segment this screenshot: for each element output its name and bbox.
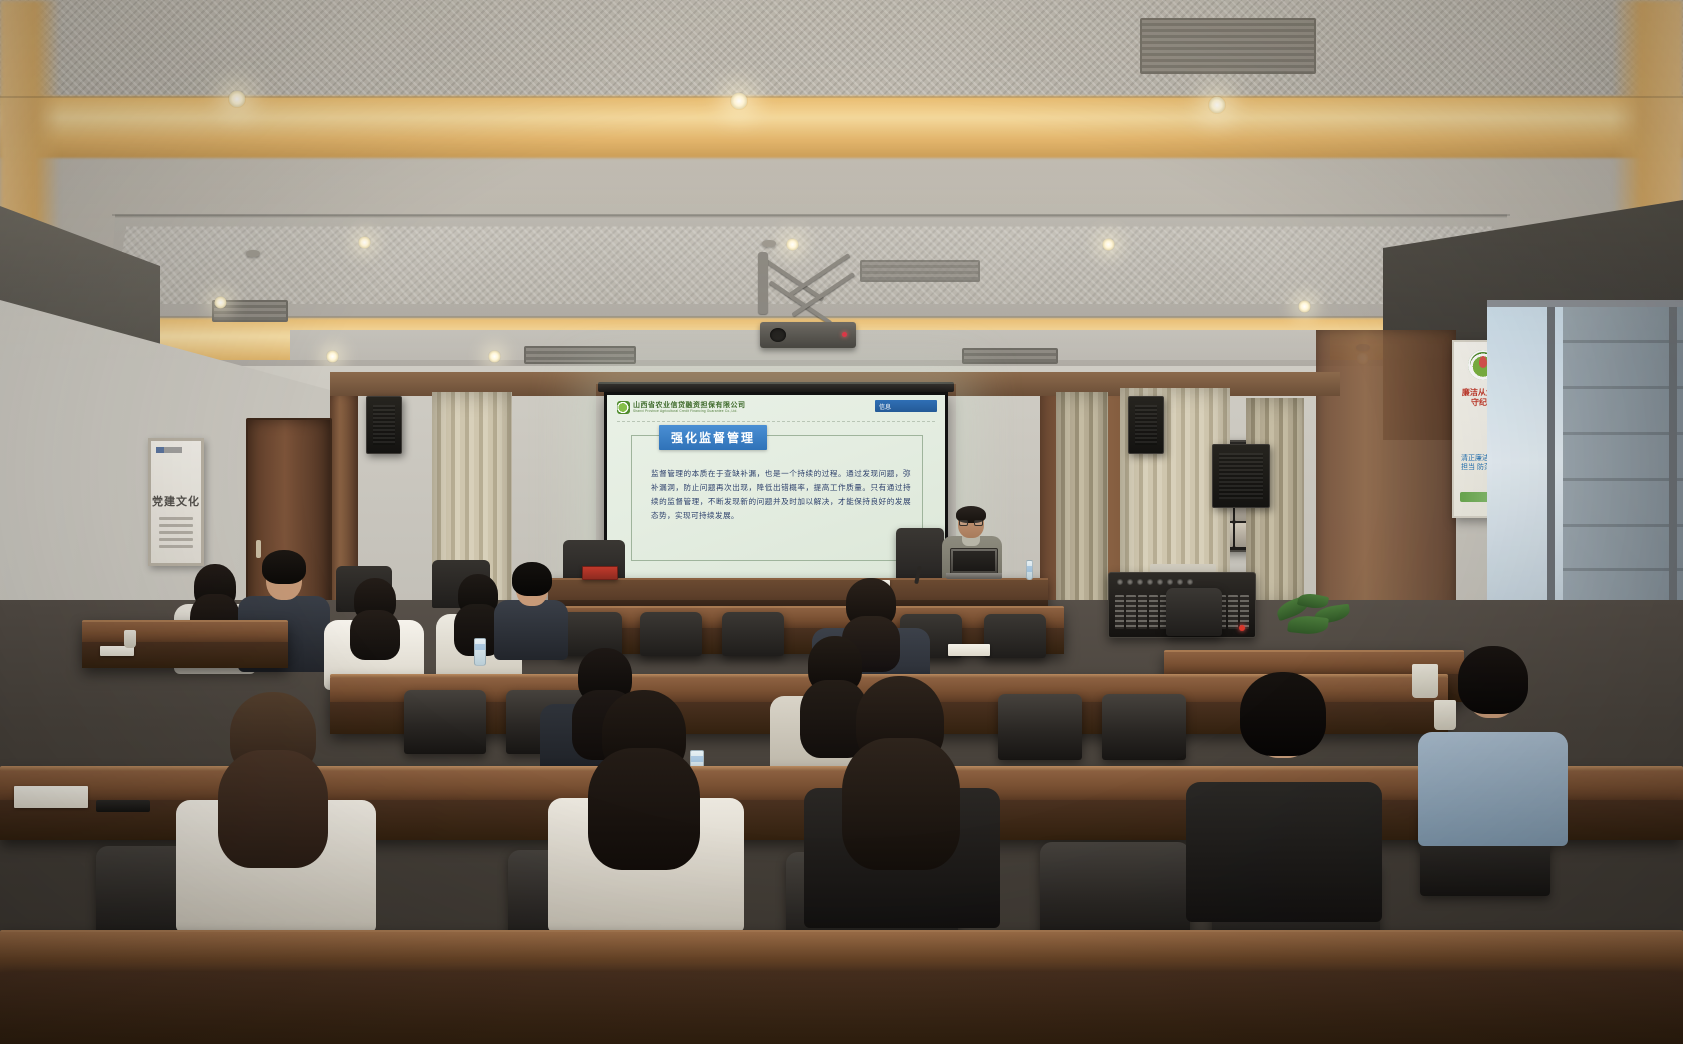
ceiling-downlight: [228, 90, 246, 108]
projector-lens: [770, 328, 786, 342]
wall-speaker-far-right: [1212, 444, 1270, 508]
slide-org-name-en: Shanxi Province Agricultural Credit Fina…: [633, 410, 746, 413]
ceiling-downlight: [1298, 300, 1311, 313]
attendee: [548, 690, 744, 932]
slide-heading: 强化监督管理: [659, 425, 767, 450]
smoke-detector: [762, 240, 776, 247]
smoke-detector: [246, 250, 260, 257]
slide-body-text: 监督管理的本质在于查缺补漏，也是一个持续的过程。通过发现问题，弥补漏洞，防止问题…: [651, 467, 911, 523]
ceiling-downlight: [1208, 96, 1226, 114]
water-bottle: [474, 638, 486, 666]
drinking-cup: [124, 630, 136, 648]
document-paper: [948, 644, 990, 656]
ceiling-downlight: [488, 350, 501, 363]
name-plate: [582, 566, 618, 580]
frame-logo: [156, 447, 182, 453]
slide-corner-tab: 信息: [875, 400, 937, 412]
chair: [404, 690, 486, 754]
notebook: [14, 786, 88, 808]
attendee: [804, 676, 1000, 928]
ceiling-seam: [112, 214, 1510, 216]
potted-plant: [1266, 592, 1358, 644]
ceiling-downlight: [326, 350, 339, 363]
scissor-lift-arms: [756, 250, 864, 328]
desk-front-most: [0, 930, 1683, 976]
chair: [998, 694, 1082, 760]
av-cart-top-item: [1150, 564, 1216, 572]
mixer-power-led: [1239, 625, 1245, 631]
attendee: [1418, 646, 1568, 846]
wall-speaker-left: [366, 396, 402, 454]
attendee: [176, 692, 376, 932]
ceiling-air-vent: [860, 260, 980, 282]
curtain-mid: [1056, 392, 1108, 630]
chair: [984, 614, 1046, 658]
window-mullion: [1487, 300, 1683, 307]
laptop-keyboard[interactable]: [946, 573, 1002, 579]
wall-frame-poster: 党建文化: [148, 438, 204, 566]
desk-front-most-panel: [0, 972, 1683, 1044]
slide-divider: [617, 421, 935, 422]
attendee: [494, 564, 568, 660]
ceiling-downlight: [1102, 238, 1115, 251]
presenter-glasses-icon: [959, 520, 983, 526]
attendee: [1186, 672, 1382, 922]
company-logo-icon: [617, 401, 630, 414]
frame-text-lines: [159, 517, 193, 552]
banner-leaf-icon: [1479, 356, 1487, 368]
projector-status-led: [842, 332, 847, 337]
frame-title: 党建文化: [151, 493, 201, 509]
ceiling-downlight: [214, 296, 227, 309]
ceiling-air-vent: [1140, 18, 1316, 74]
conference-room-photo: 党建文化 廉洁从业 严守纪律 清正廉洁 务实担当 防范风险: [0, 0, 1683, 1044]
cove-light-outer: [0, 96, 1683, 158]
av-operator-chair: [1166, 588, 1222, 636]
ceiling-seam: [0, 96, 1683, 98]
projection-screen-roller: [598, 382, 954, 392]
projector: [760, 322, 856, 348]
slide-org-logo: 山西省农业信贷融资担保有限公司 Shanxi Province Agricult…: [617, 401, 746, 414]
ceiling-downlight: [730, 92, 748, 110]
window-exterior-building: [1563, 300, 1683, 600]
slide-org-name-cn: 山西省农业信贷融资担保有限公司: [633, 402, 746, 409]
ceiling-air-vent: [524, 346, 636, 364]
water-bottle: [1026, 560, 1033, 580]
ceiling-downlight: [358, 236, 371, 249]
ceiling-air-vent: [962, 348, 1058, 364]
laptop-screen: [950, 548, 998, 574]
projector-mount: [756, 250, 864, 346]
mobile-phone[interactable]: [96, 800, 150, 812]
wall-speaker-right: [1128, 396, 1164, 454]
presenter-laptop[interactable]: [946, 548, 1002, 582]
chair: [1102, 694, 1186, 760]
presentation-slide: 山西省农业信贷融资担保有限公司 Shanxi Province Agricult…: [607, 395, 945, 585]
